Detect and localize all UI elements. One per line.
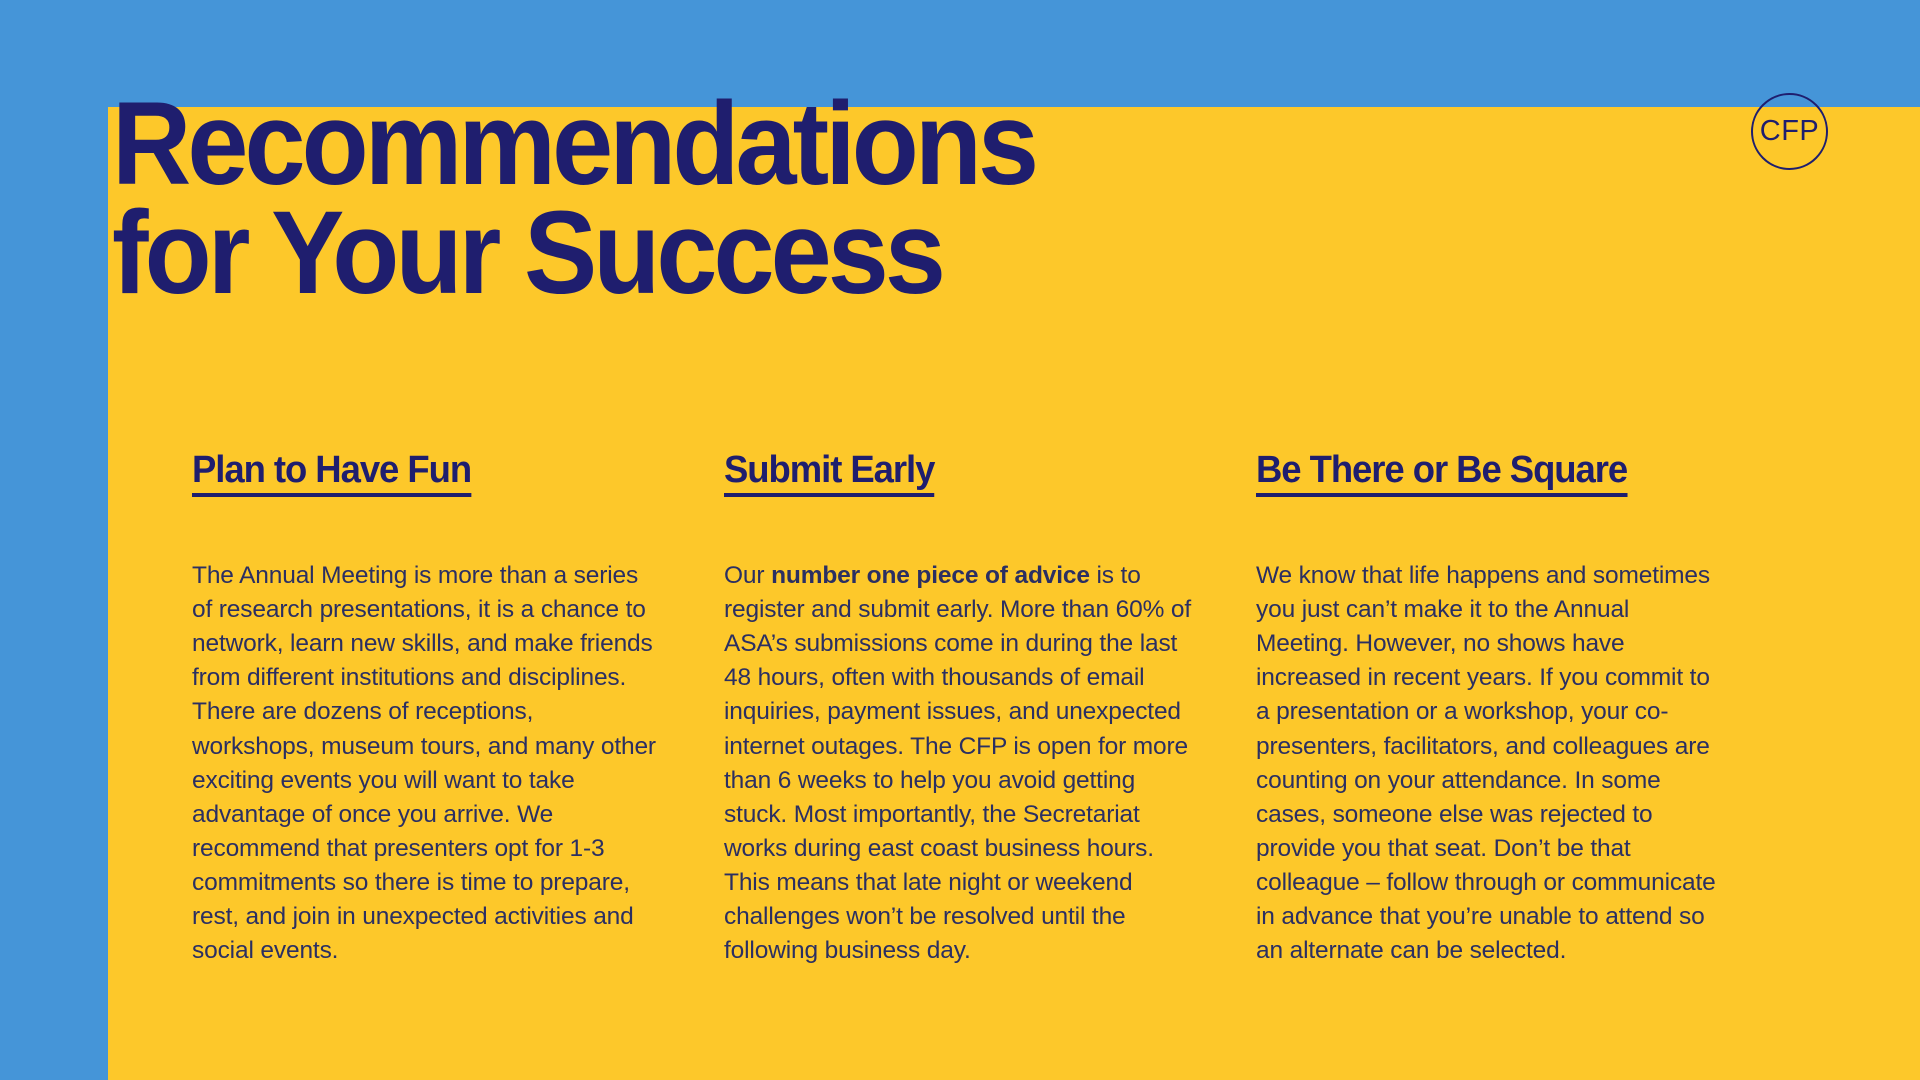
page-title: Recommendations for Your Success — [112, 90, 1182, 307]
content-column: Submit Early Our number one piece of adv… — [724, 450, 1192, 968]
column-heading: Submit Early — [724, 450, 934, 497]
column-heading: Plan to Have Fun — [192, 450, 471, 497]
cfp-badge-icon: CFP — [1751, 93, 1828, 170]
column-body: The Annual Meeting is more than a series… — [192, 559, 660, 968]
cfp-badge-label: CFP — [1760, 117, 1820, 146]
column-body: Our number one piece of advice is to reg… — [724, 559, 1192, 968]
content-column: Be There or Be Square We know that life … — [1256, 450, 1724, 968]
content-column: Plan to Have Fun The Annual Meeting is m… — [192, 450, 660, 968]
page-title-line-1: Recommendations — [112, 90, 1182, 199]
content-columns: Plan to Have Fun The Annual Meeting is m… — [192, 450, 1920, 968]
page-title-line-2: for Your Success — [112, 199, 1182, 308]
column-body: We know that life happens and sometimes … — [1256, 559, 1724, 968]
slide: Recommendations for Your Success CFP Pla… — [0, 0, 1920, 1080]
column-heading: Be There or Be Square — [1256, 450, 1627, 497]
